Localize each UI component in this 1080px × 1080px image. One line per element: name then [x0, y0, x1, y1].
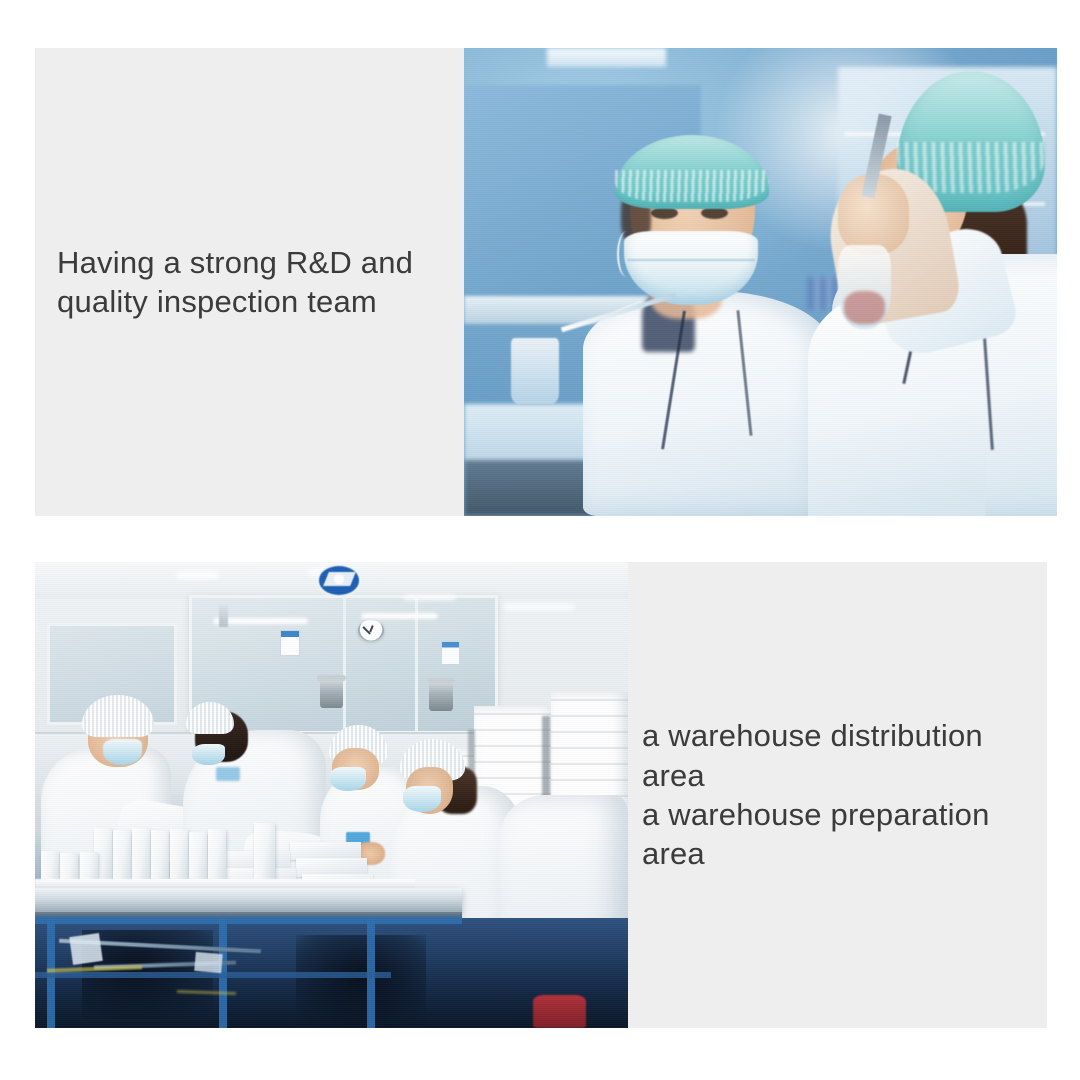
warehouse-worker-2-face-mask — [192, 744, 225, 765]
table-lower-shelf — [35, 972, 391, 978]
ceiling-light-3 — [403, 595, 456, 601]
ceiling-light-4 — [503, 604, 574, 610]
lab-flask-liquid — [844, 291, 886, 324]
caption-panel-left: Having a strong R&D and quality inspecti… — [35, 48, 464, 516]
caption-warehouse-areas: a warehouse distribution area a warehous… — [642, 716, 1047, 873]
lab-rd-quality-inspection-photo — [464, 48, 1057, 516]
interior-light-2 — [361, 613, 438, 619]
lab-ceiling-light — [547, 48, 666, 67]
steel-container-1 — [320, 679, 344, 709]
warehouse-worker-4-face-mask — [403, 786, 442, 812]
content-block-rd-quality-team: Having a strong R&D and quality inspecti… — [35, 48, 1057, 516]
lab-worker-a-mask-pleat — [627, 259, 754, 261]
warehouse-worker-2-badge — [216, 767, 240, 781]
warehouse-worker-1-face-mask — [103, 739, 142, 765]
sign-glyph-icon — [323, 572, 355, 586]
caption-rd-quality-team: Having a strong R&D and quality inspecti… — [57, 243, 413, 322]
window-mullion-1 — [343, 595, 346, 735]
wall-notice-1 — [280, 630, 300, 656]
red-shoe — [533, 995, 586, 1028]
caption-panel-right: a warehouse distribution area a warehous… — [628, 562, 1047, 1028]
steel-container-1-lid — [317, 675, 345, 681]
content-block-warehouse-areas: a warehouse distribution area a warehous… — [35, 562, 1047, 1028]
stainless-steel-table-top — [35, 888, 462, 914]
paper-sheet-2 — [194, 952, 222, 973]
lab-worker-a-mask-earloop — [617, 231, 637, 278]
paper-sheet-1 — [69, 933, 102, 965]
table-frame-rail — [35, 917, 462, 924]
warehouse-worker-3-face-mask — [330, 767, 366, 791]
warehouse-packing-line-photo — [35, 562, 628, 1028]
lab-worker-a-coat — [583, 291, 832, 516]
under-table-shadow-2 — [296, 935, 426, 1028]
wall-duct — [219, 604, 228, 627]
ceiling-light-1 — [177, 571, 219, 578]
lab-worker-a-hairnet-band — [615, 170, 769, 203]
steel-container-2-lid — [427, 678, 455, 684]
page-root: Having a strong R&D and quality inspecti… — [0, 0, 1080, 1080]
carton-8 — [254, 823, 274, 886]
steel-container-2 — [429, 681, 453, 711]
wall-notice-2 — [441, 641, 460, 664]
lab-beaker — [511, 338, 558, 404]
